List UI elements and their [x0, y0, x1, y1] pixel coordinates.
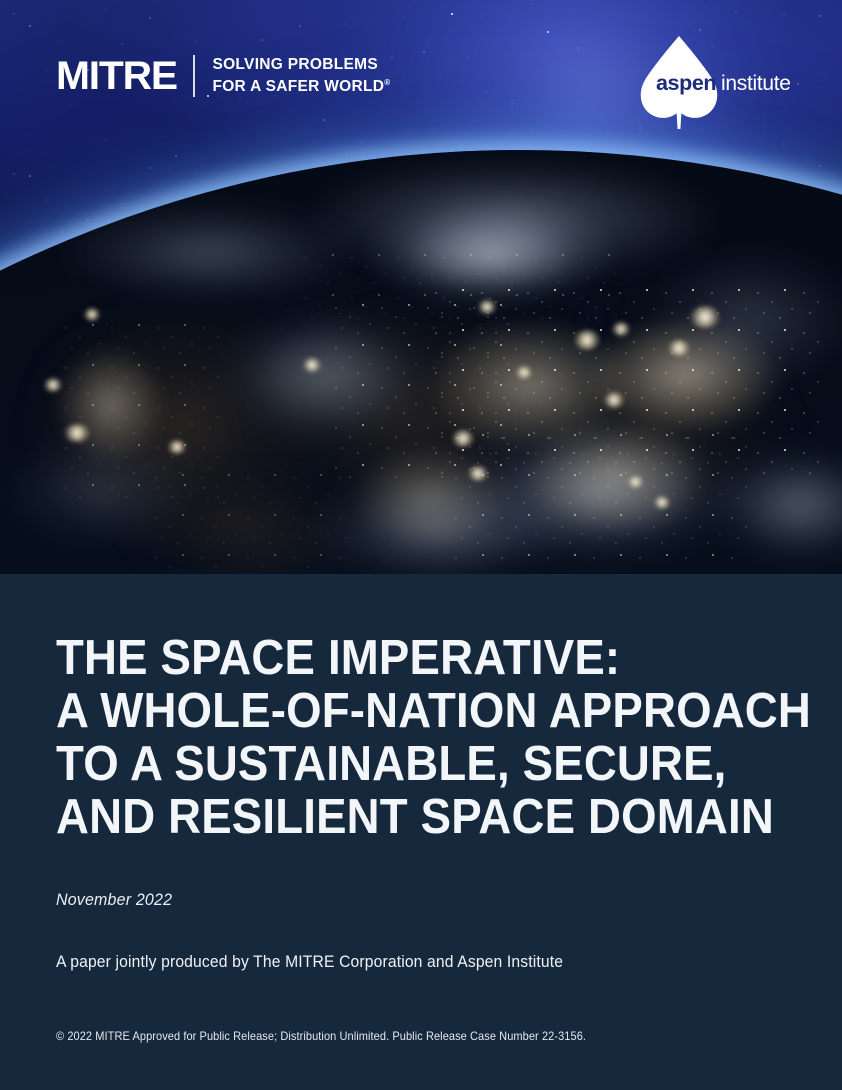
document-cover-page: MITRE SOLVING PROBLEMS FOR A SAFER WORLD…	[0, 0, 842, 1090]
aspen-word-light: institute	[721, 72, 791, 95]
metro-light-losangeles	[64, 424, 90, 442]
lights-dots-canada	[300, 250, 620, 320]
metro-light-newyork	[690, 306, 720, 328]
registered-trademark-mark: ®	[384, 78, 390, 87]
metro-light-seattle	[84, 308, 100, 321]
lights-dots-mexico	[150, 470, 350, 570]
mitre-wordmark: MITRE	[56, 56, 177, 96]
hero-space-image: MITRE SOLVING PROBLEMS FOR A SAFER WORLD…	[0, 0, 842, 574]
metro-light-denver	[303, 358, 321, 372]
metro-light-minneapolis	[478, 300, 496, 314]
metro-light-atlanta	[604, 392, 624, 408]
mitre-logo[interactable]: MITRE SOLVING PROBLEMS FOR A SAFER WORLD…	[56, 52, 391, 100]
metro-light-houston	[468, 466, 488, 481]
lights-dots-south	[450, 430, 750, 560]
metro-light-sanfrancisco	[44, 378, 62, 392]
publication-date: November 2022	[56, 890, 172, 910]
title-line-4: AND RESILIENT SPACE DOMAIN	[56, 791, 707, 844]
copyright-notice: © 2022 MITRE Approved for Public Release…	[56, 1030, 586, 1043]
mitre-tagline: SOLVING PROBLEMS FOR A SAFER WORLD®	[212, 56, 390, 96]
mitre-tagline-line1: SOLVING PROBLEMS	[212, 56, 378, 73]
metro-light-dallas	[452, 430, 474, 447]
mitre-tagline-line2: FOR A SAFER WORLD	[212, 78, 384, 95]
cover-logo-row: MITRE SOLVING PROBLEMS FOR A SAFER WORLD…	[0, 0, 842, 140]
page-title: THE SPACE IMPERATIVE: A WHOLE-OF-NATION …	[56, 632, 707, 844]
metro-light-dc	[668, 340, 690, 356]
aspen-institute-logo[interactable]: aspen institute	[632, 32, 812, 130]
title-line-3: TO A SUSTAINABLE, SECURE,	[56, 738, 707, 791]
byline: A paper jointly produced by The MITRE Co…	[56, 953, 563, 972]
metro-light-tampa	[628, 476, 643, 488]
metro-light-phoenix	[168, 440, 186, 454]
title-line-1: THE SPACE IMPERATIVE:	[56, 632, 707, 685]
metro-light-detroit	[612, 322, 630, 336]
title-line-2: A WHOLE-OF-NATION APPROACH	[56, 685, 707, 738]
metro-light-stlouis	[516, 366, 532, 379]
cover-text-panel: THE SPACE IMPERATIVE: A WHOLE-OF-NATION …	[0, 574, 842, 1090]
metro-light-chicago	[574, 330, 600, 350]
logo-divider	[193, 55, 195, 97]
aspen-word-bold: aspen	[656, 71, 716, 95]
metro-light-miami	[654, 496, 670, 509]
